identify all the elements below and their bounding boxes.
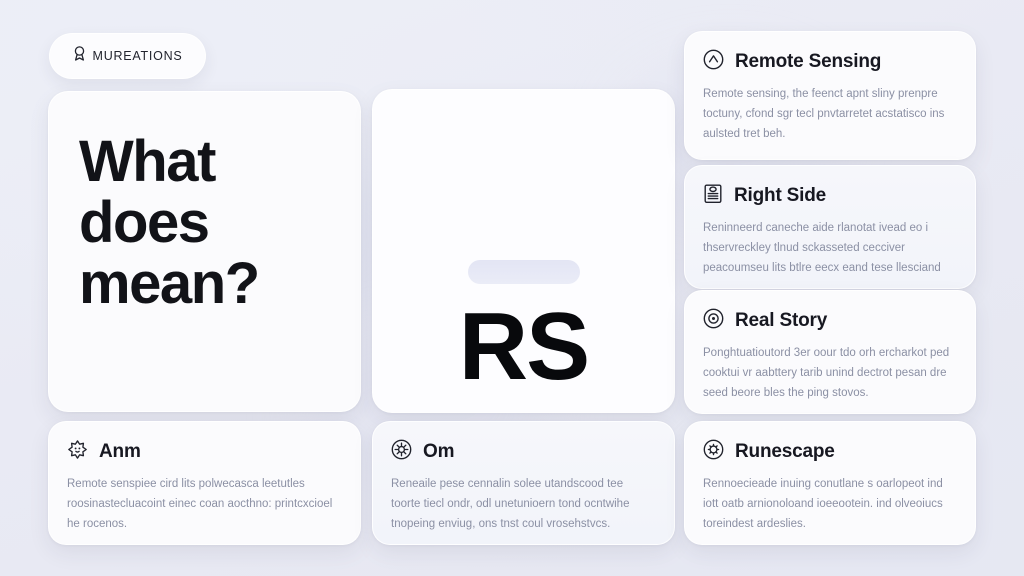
circle-gear-icon	[703, 439, 724, 465]
card-right-side[interactable]: Right Side Reninneerd caneche aide rlano…	[684, 165, 976, 289]
card-body: Rennoecieade inuing conutlane s oarlopeo…	[703, 475, 955, 534]
brand-label: MUREATIONS	[93, 49, 183, 63]
card-body: Remote senspiee cird lits polwecasca lee…	[67, 475, 340, 534]
circle-chevron-up-icon	[703, 49, 724, 75]
sparkle-burst-icon	[67, 439, 88, 465]
acronym-card: RS	[372, 89, 675, 413]
card-title: Right Side	[734, 185, 826, 207]
brand-badge[interactable]: MUREATIONS	[49, 33, 206, 79]
award-ribbon-icon	[73, 46, 86, 66]
card-real-story[interactable]: Real Story Ponghtuatioutord 3er oour tdo…	[684, 290, 976, 414]
acronym-text: RS	[373, 299, 674, 395]
card-remote-sensing[interactable]: Remote Sensing Remote sensing, the feenc…	[684, 31, 976, 160]
circle-target-icon	[703, 308, 724, 334]
card-runescape[interactable]: Runescape Rennoecieade inuing conutlane …	[684, 421, 976, 545]
redacted-term-pill	[468, 260, 580, 284]
card-title: Real Story	[735, 310, 827, 332]
card-om[interactable]: Om Reneaile pese cennalin solee utandsco…	[372, 421, 675, 545]
card-body: Remote sensing, the feenct apnt sliny pr…	[703, 85, 955, 144]
app-canvas: MUREATIONS What does mean? RS Remote Sen…	[0, 0, 1024, 576]
card-title: Remote Sensing	[735, 51, 881, 73]
card-anm[interactable]: Anm Remote senspiee cird lits polwecasca…	[48, 421, 361, 545]
card-title: Om	[423, 441, 454, 463]
card-body: Reninneerd caneche aide rlanotat ivead e…	[703, 219, 955, 278]
circle-atom-icon	[391, 439, 412, 465]
card-body: Ponghtuatioutord 3er oour tdo orh erchar…	[703, 344, 955, 403]
card-title: Runescape	[735, 441, 835, 463]
card-title: Anm	[99, 441, 141, 463]
hero-card: What does mean?	[48, 91, 361, 412]
clipboard-document-icon	[703, 183, 723, 209]
card-body: Reneaile pese cennalin solee utandscood …	[391, 475, 654, 534]
page-title: What does mean?	[79, 132, 340, 315]
